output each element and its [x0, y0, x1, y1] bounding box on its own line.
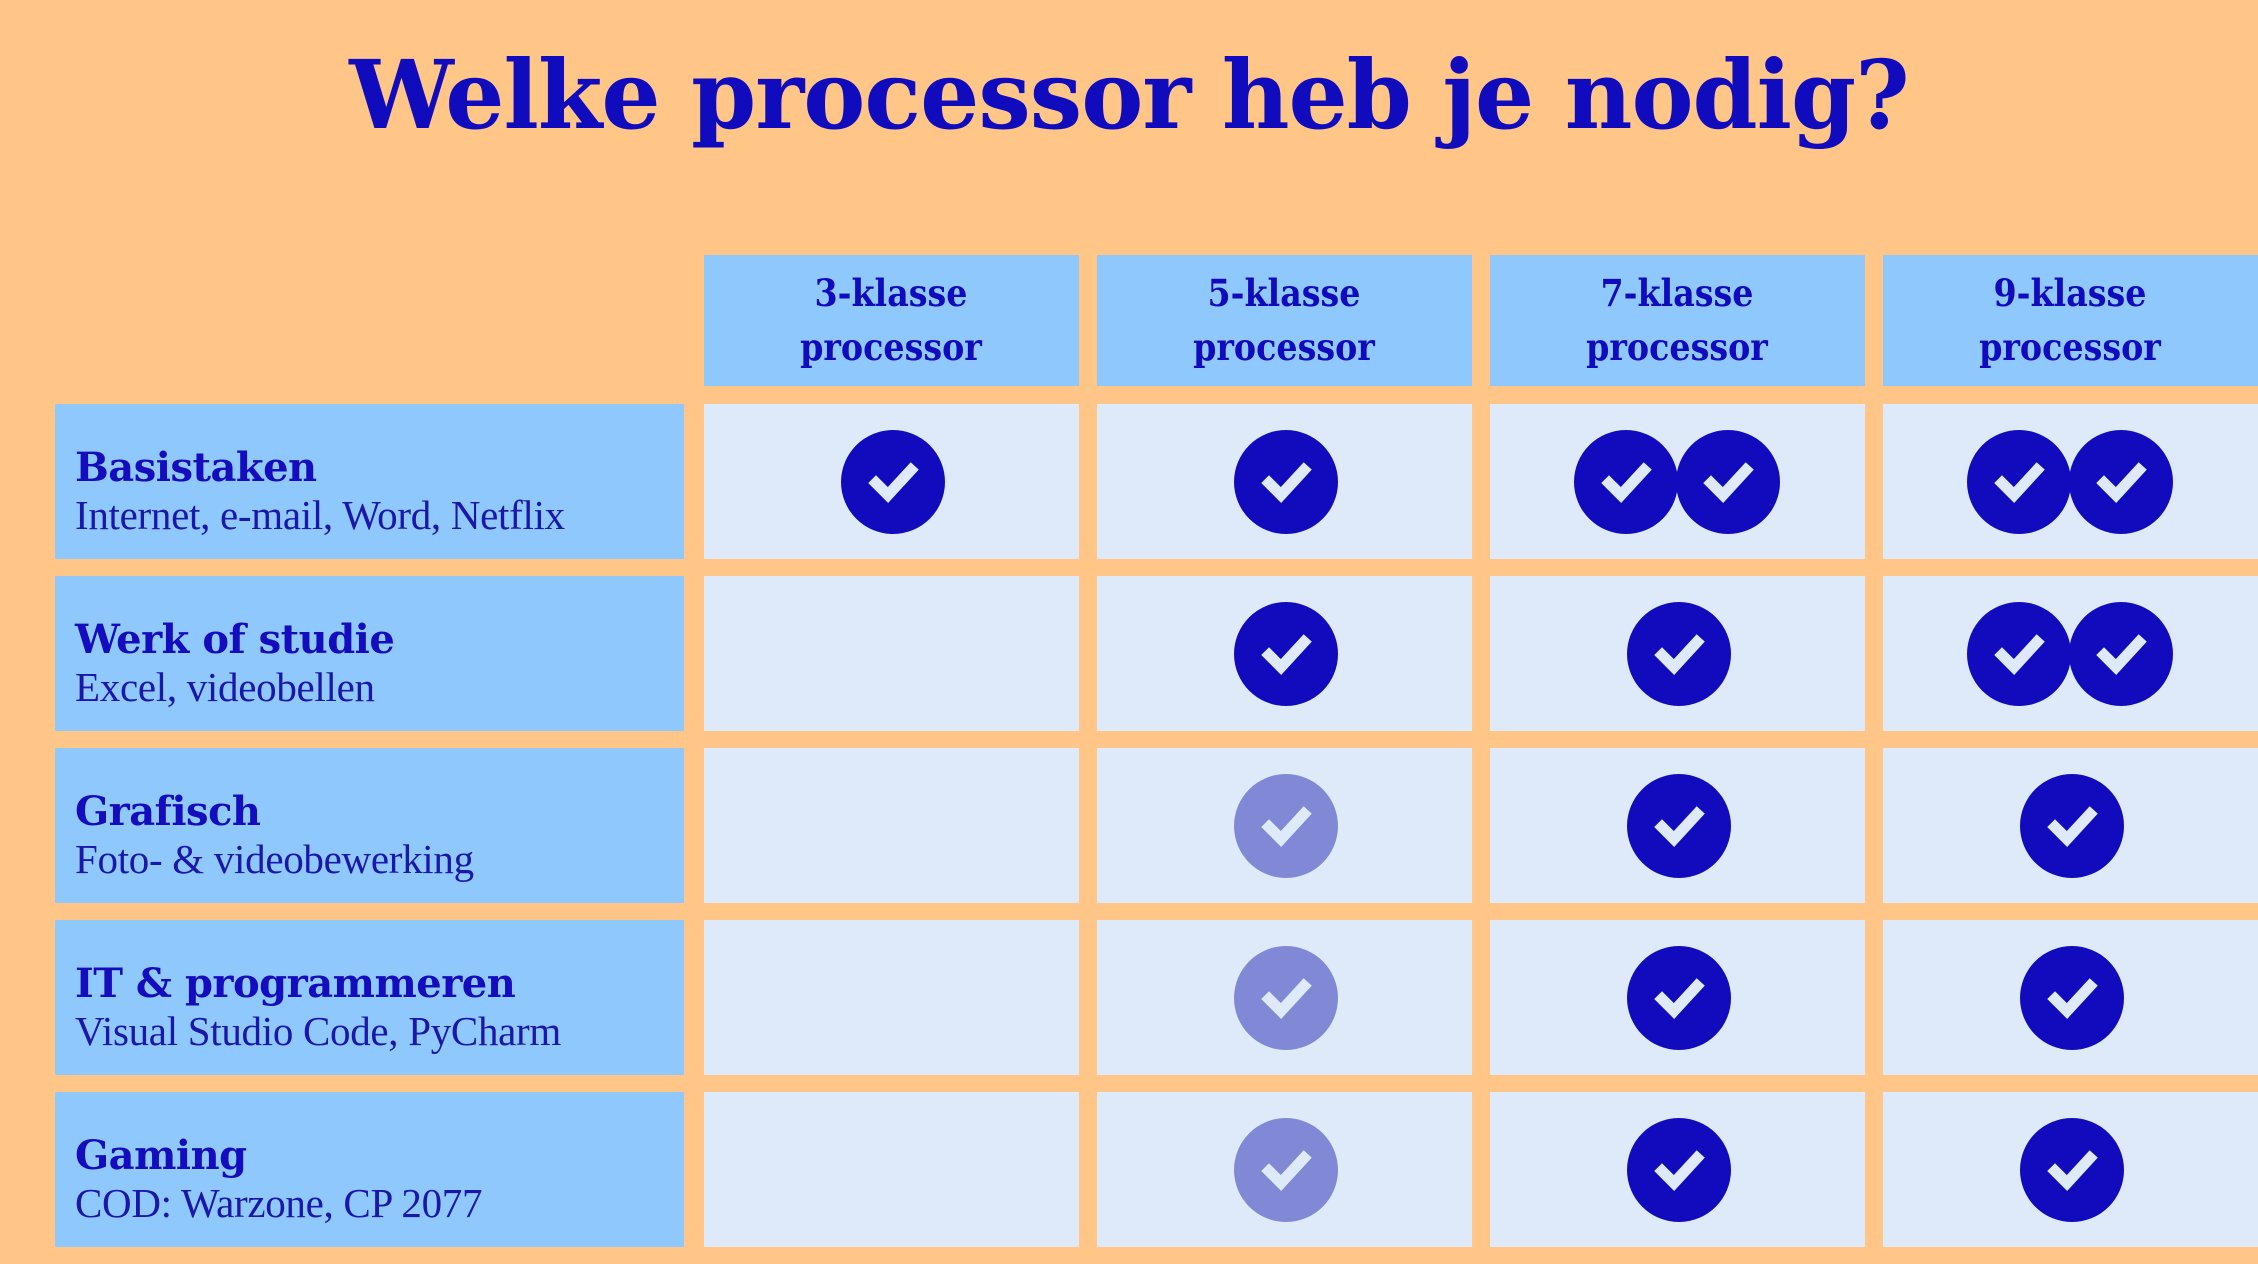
rating-cell: [1490, 404, 1865, 559]
table-row: BasistakenInternet, e-mail, Word, Netfli…: [0, 404, 2258, 559]
page-title: Welke processor heb je nodig?: [23, 48, 2236, 143]
row-label-title: Grafisch: [75, 791, 684, 833]
check-group: [1627, 602, 1727, 706]
row-label-subtitle: COD: Warzone, CP 2077: [75, 1181, 684, 1225]
rating-cell: [1097, 920, 1472, 1075]
check-icon: [1574, 430, 1678, 534]
column-header-line1: 9-klasse: [1994, 267, 2147, 321]
check-group: [1627, 946, 1727, 1050]
column-header-line2: processor: [1980, 321, 2162, 375]
check-icon: [2069, 430, 2173, 534]
check-icon-faded: [1234, 774, 1338, 878]
column-header-7-klasse: 7-klasse processor: [1490, 255, 1865, 386]
check-group: [1627, 1118, 1727, 1222]
check-group: [1967, 430, 2173, 534]
check-icon: [1627, 774, 1731, 878]
row-label-title: Werk of studie: [75, 619, 684, 661]
row-label-title: Basistaken: [75, 447, 684, 489]
rating-cell: [704, 404, 1079, 559]
check-icon-faded: [1234, 946, 1338, 1050]
check-group: [841, 430, 941, 534]
row-label-cell: BasistakenInternet, e-mail, Word, Netfli…: [55, 404, 684, 559]
check-icon: [1627, 1118, 1731, 1222]
rating-cell: [1097, 1092, 1472, 1247]
table-row: GrafischFoto- & videobewerking: [0, 748, 2258, 903]
rating-cell: [1883, 576, 2258, 731]
check-group: [1574, 430, 1780, 534]
check-icon: [1967, 602, 2071, 706]
row-label-title: Gaming: [75, 1135, 684, 1177]
rating-cell: [704, 1092, 1079, 1247]
check-icon: [1234, 430, 1338, 534]
check-group: [1234, 1118, 1334, 1222]
column-header-line2: processor: [1193, 321, 1375, 375]
rating-cell: [1490, 1092, 1865, 1247]
column-header-line1: 5-klasse: [1208, 267, 1361, 321]
row-label-title: IT & programmeren: [75, 963, 684, 1005]
column-header-line2: processor: [1586, 321, 1768, 375]
column-header-3-klasse: 3-klasse processor: [704, 255, 1079, 386]
check-icon: [841, 430, 945, 534]
check-group: [1234, 602, 1334, 706]
rating-cell: [1490, 748, 1865, 903]
check-group: [1967, 602, 2173, 706]
check-group: [1234, 946, 1334, 1050]
check-group: [2020, 774, 2120, 878]
table-row: IT & programmerenVisual Studio Code, PyC…: [0, 920, 2258, 1075]
table-body: BasistakenInternet, e-mail, Word, Netfli…: [0, 404, 2258, 1247]
comparison-table: 3-klasse processor 5-klasse processor 7-…: [0, 255, 2258, 1264]
rating-cell: [1097, 576, 1472, 731]
rating-cell: [704, 748, 1079, 903]
check-icon: [2020, 1118, 2124, 1222]
rating-cell: [1883, 404, 2258, 559]
row-label-subtitle: Excel, videobellen: [75, 665, 684, 709]
column-header-9-klasse: 9-klasse processor: [1883, 255, 2258, 386]
column-header-line1: 7-klasse: [1601, 267, 1754, 321]
rating-cell: [1883, 748, 2258, 903]
row-label-cell: Werk of studieExcel, videobellen: [55, 576, 684, 731]
rating-cell: [704, 576, 1079, 731]
check-icon: [1234, 602, 1338, 706]
row-label-subtitle: Visual Studio Code, PyCharm: [75, 1009, 684, 1053]
check-icon: [2069, 602, 2173, 706]
column-header-5-klasse: 5-klasse processor: [1097, 255, 1472, 386]
check-icon-faded: [1234, 1118, 1338, 1222]
check-group: [2020, 946, 2120, 1050]
check-group: [1234, 430, 1334, 534]
check-group: [1627, 774, 1727, 878]
check-icon: [2020, 946, 2124, 1050]
check-icon: [1967, 430, 2071, 534]
column-header-line2: processor: [800, 321, 982, 375]
rating-cell: [704, 920, 1079, 1075]
column-header-line1: 3-klasse: [815, 267, 968, 321]
rating-cell: [1490, 920, 1865, 1075]
row-label-cell: GamingCOD: Warzone, CP 2077: [55, 1092, 684, 1247]
row-label-cell: IT & programmerenVisual Studio Code, PyC…: [55, 920, 684, 1075]
table-header-row: 3-klasse processor 5-klasse processor 7-…: [0, 255, 2258, 386]
rating-cell: [1097, 748, 1472, 903]
row-label-subtitle: Internet, e-mail, Word, Netflix: [75, 493, 684, 537]
infographic-page: Welke processor heb je nodig? 3-klasse p…: [0, 0, 2258, 1263]
check-icon: [2020, 774, 2124, 878]
row-label-subtitle: Foto- & videobewerking: [75, 837, 684, 881]
row-label-cell: GrafischFoto- & videobewerking: [55, 748, 684, 903]
rating-cell: [1490, 576, 1865, 731]
rating-cell: [1097, 404, 1472, 559]
rating-cell: [1883, 920, 2258, 1075]
check-icon: [1627, 946, 1731, 1050]
check-icon: [1627, 602, 1731, 706]
header-corner-cell: [55, 255, 684, 386]
table-row: GamingCOD: Warzone, CP 2077: [0, 1092, 2258, 1247]
check-group: [2020, 1118, 2120, 1222]
table-row: Werk of studieExcel, videobellen: [0, 576, 2258, 731]
rating-cell: [1883, 1092, 2258, 1247]
check-group: [1234, 774, 1334, 878]
check-icon: [1676, 430, 1780, 534]
